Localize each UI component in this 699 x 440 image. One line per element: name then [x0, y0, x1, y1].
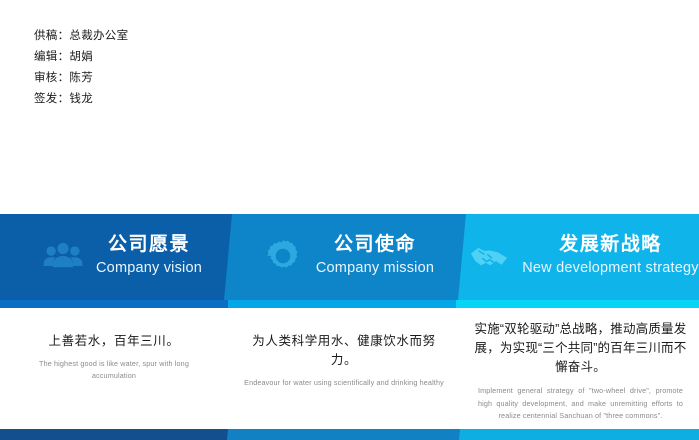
credit-line-issuer: 签发：钱龙 — [34, 89, 334, 110]
secondary-banner-segment-3 — [458, 429, 699, 440]
people-group-icon — [42, 235, 84, 277]
banner-panels: 公司愿景 Company vision 公司使命 Company mission — [0, 214, 699, 300]
column-text-cn-mission: 为人类科学用水、健康饮水而努力。 — [240, 332, 448, 370]
panel-title-en-vision: Company vision — [96, 257, 202, 279]
accent-segment-vision — [0, 300, 228, 308]
column-text-en-mission: Endeavour for water using scientifically… — [240, 377, 448, 389]
secondary-banner-segment-1 — [0, 429, 228, 440]
secondary-banner — [0, 429, 699, 440]
gear-icon — [262, 235, 304, 277]
panel-title-cn-vision: 公司愿景 — [108, 233, 190, 257]
column-company-mission: 为人类科学用水、健康饮水而努力。 Endeavour for water usi… — [228, 316, 460, 420]
panel-title-cn-mission: 公司使命 — [334, 233, 416, 257]
column-text-en-vision: The highest good is like water, spur wit… — [18, 358, 210, 382]
credit-line-contributor: 供稿：总裁办公室 — [34, 26, 334, 47]
column-text-cn-strategy: 实施“双轮驱动”总战略，推动高质量发展，为实现“三个共同”的百年三川而不懈奋斗。 — [474, 320, 687, 377]
culture-banner: 公司愿景 Company vision 公司使命 Company mission — [0, 214, 699, 308]
accent-segment-strategy — [456, 300, 699, 308]
credits-block: 供稿：总裁办公室 编辑：胡娟 审核：陈芳 签发：钱龙 — [34, 26, 334, 110]
secondary-banner-segment-2 — [226, 429, 460, 440]
banner-panel-company-vision[interactable]: 公司愿景 Company vision — [0, 214, 240, 300]
culture-content-columns: 上善若水，百年三川。 The highest good is like wate… — [0, 316, 699, 420]
banner-panel-new-development-strategy[interactable]: 发展新战略 New development strategy — [450, 214, 699, 300]
panel-title-en-strategy: New development strategy — [522, 257, 698, 279]
credit-line-editor: 编辑：胡娟 — [34, 47, 334, 68]
column-new-development-strategy: 实施“双轮驱动”总战略，推动高质量发展，为实现“三个共同”的百年三川而不懈奋斗。… — [460, 316, 699, 420]
panel-title-en-mission: Company mission — [316, 257, 434, 279]
column-text-en-strategy: Implement general strategy of "two-wheel… — [474, 385, 687, 423]
column-company-vision: 上善若水，百年三川。 The highest good is like wate… — [0, 316, 228, 420]
handshake-icon — [468, 235, 510, 277]
panel-title-cn-strategy: 发展新战略 — [559, 233, 662, 257]
banner-accent-strip — [0, 300, 699, 308]
credit-line-reviewer: 审核：陈芳 — [34, 68, 334, 89]
column-text-cn-vision: 上善若水，百年三川。 — [18, 332, 210, 351]
accent-segment-mission — [228, 300, 456, 308]
banner-panel-company-mission[interactable]: 公司使命 Company mission — [216, 214, 466, 300]
